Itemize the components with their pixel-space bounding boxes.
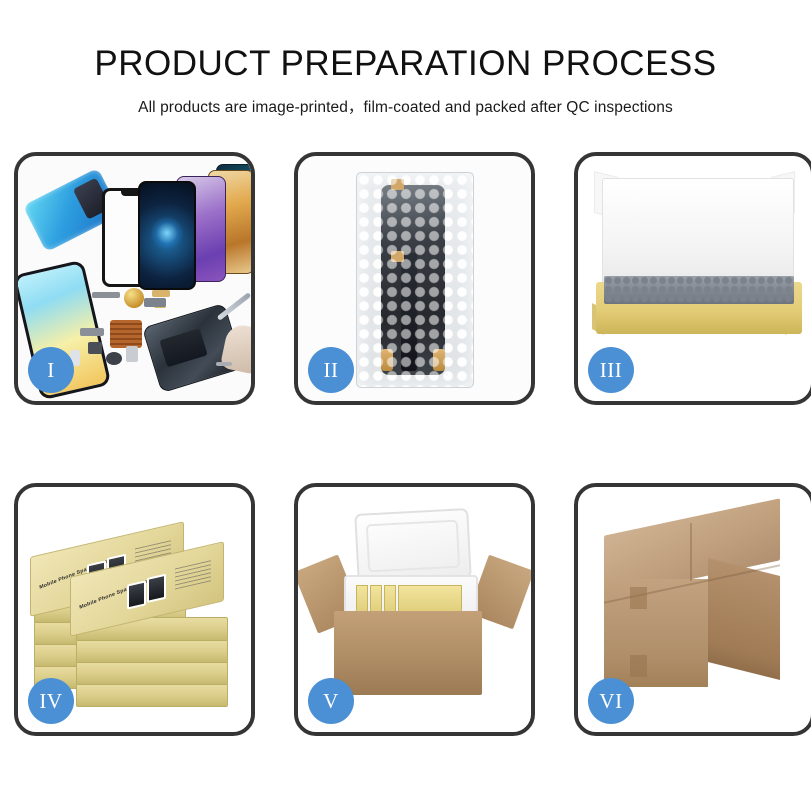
- process-steps-grid: I II: [14, 152, 797, 736]
- part-speaker-icon: [106, 352, 122, 365]
- step-card-6: VI: [574, 483, 811, 736]
- carton-tape-patch: [630, 655, 647, 677]
- product-preparation-infographic: PRODUCT PREPARATION PROCESS All products…: [0, 0, 811, 811]
- connector-icon: [433, 349, 445, 371]
- step-badge-6: VI: [588, 678, 634, 724]
- white-lid-icon: [602, 178, 794, 292]
- dark-phone-icon: [138, 181, 196, 290]
- flex-cable-icon: [401, 253, 417, 371]
- carton-seam: [690, 523, 692, 581]
- step-badge-5: V: [308, 678, 354, 724]
- part-strip-icon: [92, 292, 120, 298]
- header: PRODUCT PREPARATION PROCESS All products…: [0, 0, 811, 117]
- part-flex-icon: [144, 298, 166, 307]
- bubble-wrapped-contents-icon: [604, 276, 794, 304]
- part-screw-icon: [216, 362, 232, 366]
- step-card-1: I: [14, 152, 255, 405]
- part-cable-icon: [80, 328, 104, 336]
- retail-box-layer: [76, 683, 228, 707]
- tape-icon: [391, 179, 404, 190]
- gold-chip-icon: [124, 288, 144, 308]
- bubble-wrap-bag-icon: [356, 172, 474, 388]
- box-thumb-icon: [127, 580, 146, 609]
- part-chip-icon: [126, 346, 138, 362]
- step-card-5: V: [294, 483, 535, 736]
- page-subtitle: All products are image-printed，film-coat…: [0, 95, 811, 117]
- step-card-2: II: [294, 152, 535, 405]
- retail-box-layer: [76, 639, 228, 663]
- step-card-4: Mobile Phone Spare Parts Mobile Phone Sp…: [14, 483, 255, 736]
- copper-board-icon: [110, 320, 142, 348]
- carton-tape-patch: [630, 587, 647, 609]
- retail-box-layer: [76, 661, 228, 685]
- tape-icon: [391, 251, 404, 262]
- carton-body-icon: [334, 611, 482, 695]
- foam-lid-icon: [354, 508, 472, 584]
- step-badge-4: IV: [28, 678, 74, 724]
- box-spec-lines: [175, 559, 211, 589]
- box-thumb-icon: [147, 574, 166, 603]
- connector-icon: [381, 349, 393, 371]
- step-badge-3: III: [588, 347, 634, 393]
- step-card-3: III: [574, 152, 811, 405]
- part-connector-icon: [152, 290, 170, 297]
- page-title: PRODUCT PREPARATION PROCESS: [0, 44, 811, 83]
- step-badge-2: II: [308, 347, 354, 393]
- carton-front-face: [604, 579, 708, 687]
- part-block-icon: [88, 342, 102, 354]
- step-badge-1: I: [28, 347, 74, 393]
